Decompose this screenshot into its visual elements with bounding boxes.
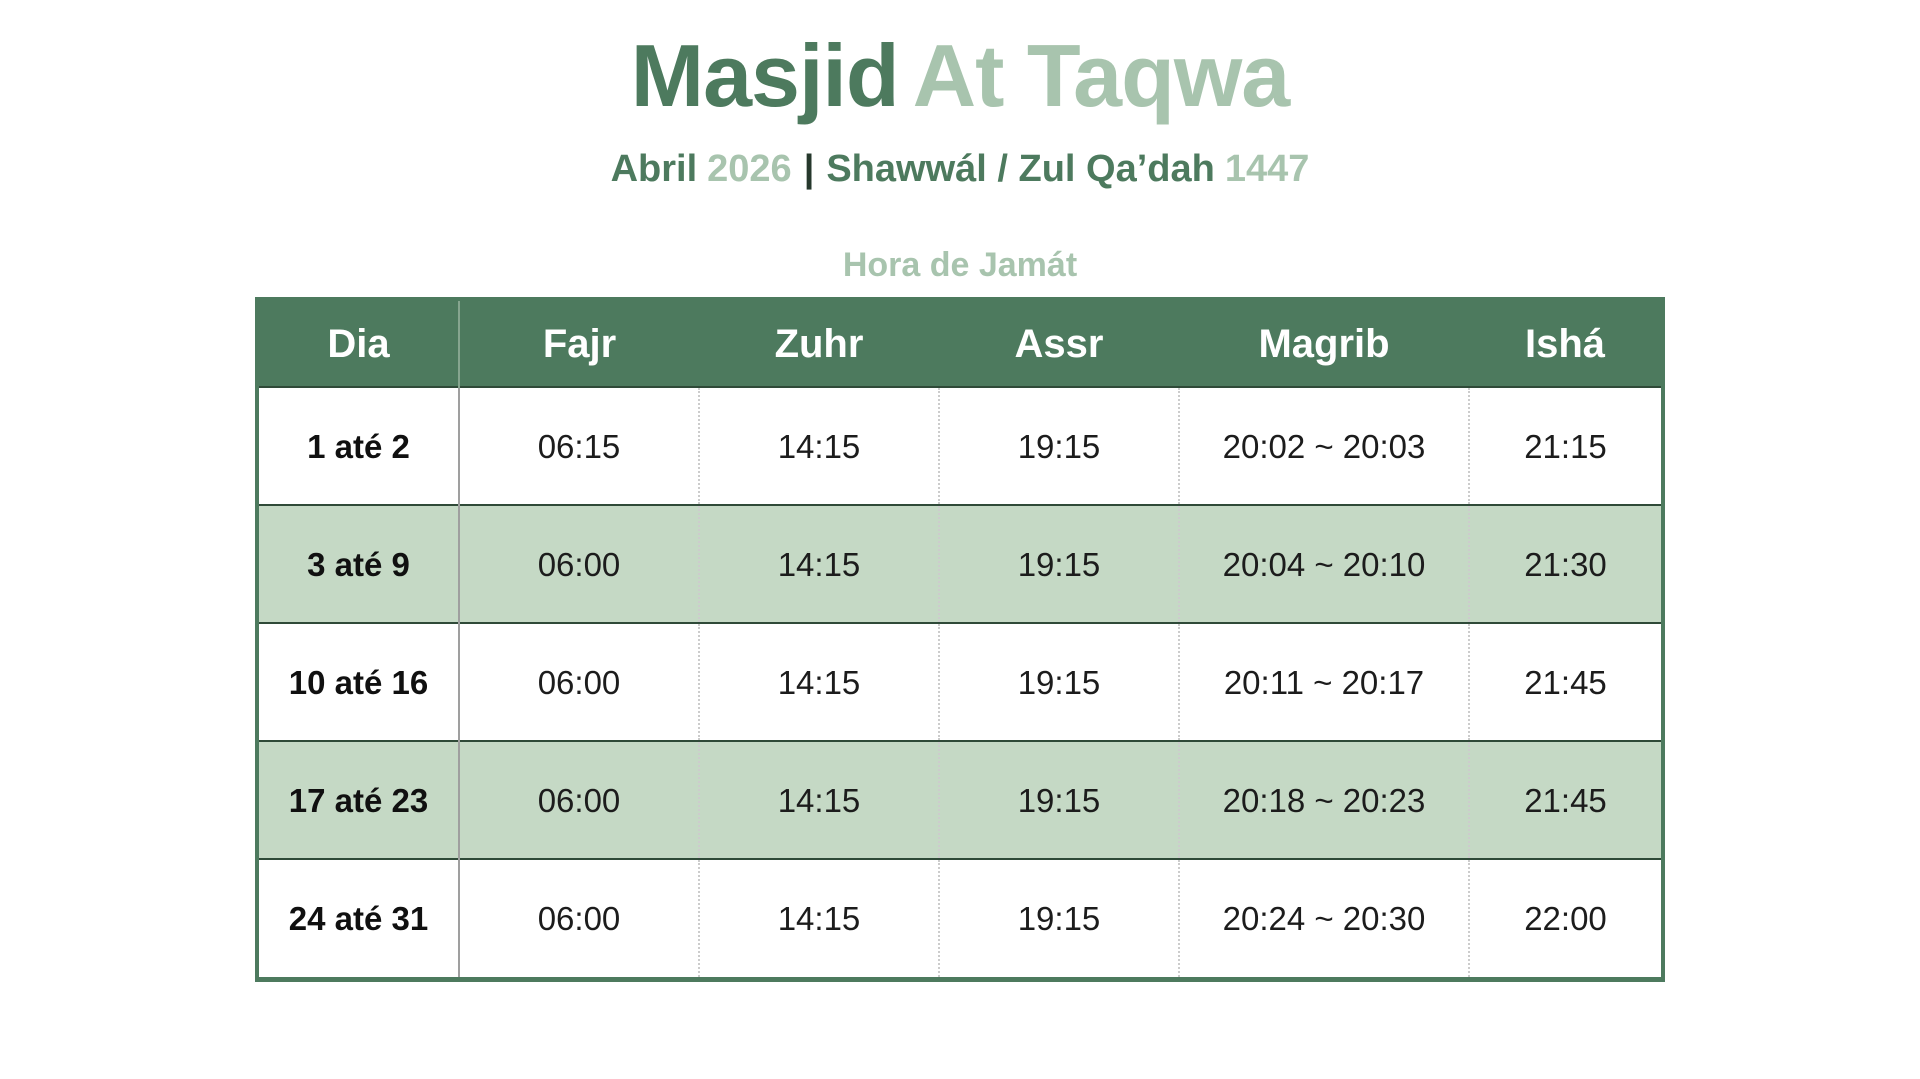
- hijri-year-label: 1447: [1225, 148, 1310, 190]
- cell-assr: 19:15: [939, 505, 1179, 623]
- cell-fajr: 06:00: [459, 741, 699, 859]
- column-header-magrib: Magrib: [1179, 301, 1469, 387]
- cell-dia: 10 até 16: [259, 623, 459, 741]
- cell-fajr: 06:00: [459, 859, 699, 977]
- table-header: Dia Fajr Zuhr Assr Magrib Ishá: [259, 301, 1661, 387]
- hijri-months-label: Shawwál / Zul Qa’dah: [826, 148, 1215, 190]
- subtitle-separator: |: [804, 148, 815, 190]
- masjid-title-secondary: At Taqwa: [913, 26, 1290, 125]
- column-header-assr: Assr: [939, 301, 1179, 387]
- cell-magrib: 20:04 ~ 20:10: [1179, 505, 1469, 623]
- prayer-times-table-container: Dia Fajr Zuhr Assr Magrib Ishá 1 até 206…: [255, 297, 1665, 982]
- cell-assr: 19:15: [939, 623, 1179, 741]
- table-body: 1 até 206:1514:1519:1520:02 ~ 20:0321:15…: [259, 387, 1661, 977]
- prayer-times-table: Dia Fajr Zuhr Assr Magrib Ishá 1 até 206…: [259, 301, 1661, 977]
- column-header-dia: Dia: [259, 301, 459, 387]
- jamat-time-label: Hora de Jamát: [843, 245, 1077, 286]
- calendar-subtitle: Abril2026|Shawwál / Zul Qa’dah1447: [611, 147, 1310, 193]
- cell-magrib: 20:02 ~ 20:03: [1179, 387, 1469, 505]
- cell-magrib: 20:24 ~ 20:30: [1179, 859, 1469, 977]
- cell-isha: 21:45: [1469, 623, 1661, 741]
- cell-dia: 17 até 23: [259, 741, 459, 859]
- gregorian-month-label: Abril: [611, 148, 698, 190]
- cell-zuhr: 14:15: [699, 741, 939, 859]
- cell-assr: 19:15: [939, 387, 1179, 505]
- cell-magrib: 20:11 ~ 20:17: [1179, 623, 1469, 741]
- cell-magrib: 20:18 ~ 20:23: [1179, 741, 1469, 859]
- cell-isha: 21:15: [1469, 387, 1661, 505]
- cell-assr: 19:15: [939, 741, 1179, 859]
- column-header-isha: Ishá: [1469, 301, 1661, 387]
- cell-assr: 19:15: [939, 859, 1179, 977]
- column-header-zuhr: Zuhr: [699, 301, 939, 387]
- table-row: 10 até 1606:0014:1519:1520:11 ~ 20:1721:…: [259, 623, 1661, 741]
- table-row: 24 até 3106:0014:1519:1520:24 ~ 20:3022:…: [259, 859, 1661, 977]
- masjid-title: MasjidAt Taqwa: [631, 28, 1289, 123]
- cell-fajr: 06:15: [459, 387, 699, 505]
- cell-dia: 1 até 2: [259, 387, 459, 505]
- cell-zuhr: 14:15: [699, 623, 939, 741]
- prayer-timetable-page: MasjidAt Taqwa Abril2026|Shawwál / Zul Q…: [0, 0, 1920, 1079]
- column-header-fajr: Fajr: [459, 301, 699, 387]
- cell-fajr: 06:00: [459, 505, 699, 623]
- cell-isha: 21:45: [1469, 741, 1661, 859]
- cell-dia: 24 até 31: [259, 859, 459, 977]
- cell-zuhr: 14:15: [699, 505, 939, 623]
- table-row: 1 até 206:1514:1519:1520:02 ~ 20:0321:15: [259, 387, 1661, 505]
- table-row: 17 até 2306:0014:1519:1520:18 ~ 20:2321:…: [259, 741, 1661, 859]
- cell-zuhr: 14:15: [699, 387, 939, 505]
- cell-isha: 22:00: [1469, 859, 1661, 977]
- gregorian-year-label: 2026: [707, 148, 792, 190]
- cell-isha: 21:30: [1469, 505, 1661, 623]
- cell-dia: 3 até 9: [259, 505, 459, 623]
- cell-fajr: 06:00: [459, 623, 699, 741]
- masjid-title-primary: Masjid: [631, 26, 899, 125]
- table-row: 3 até 906:0014:1519:1520:04 ~ 20:1021:30: [259, 505, 1661, 623]
- table-header-row: Dia Fajr Zuhr Assr Magrib Ishá: [259, 301, 1661, 387]
- cell-zuhr: 14:15: [699, 859, 939, 977]
